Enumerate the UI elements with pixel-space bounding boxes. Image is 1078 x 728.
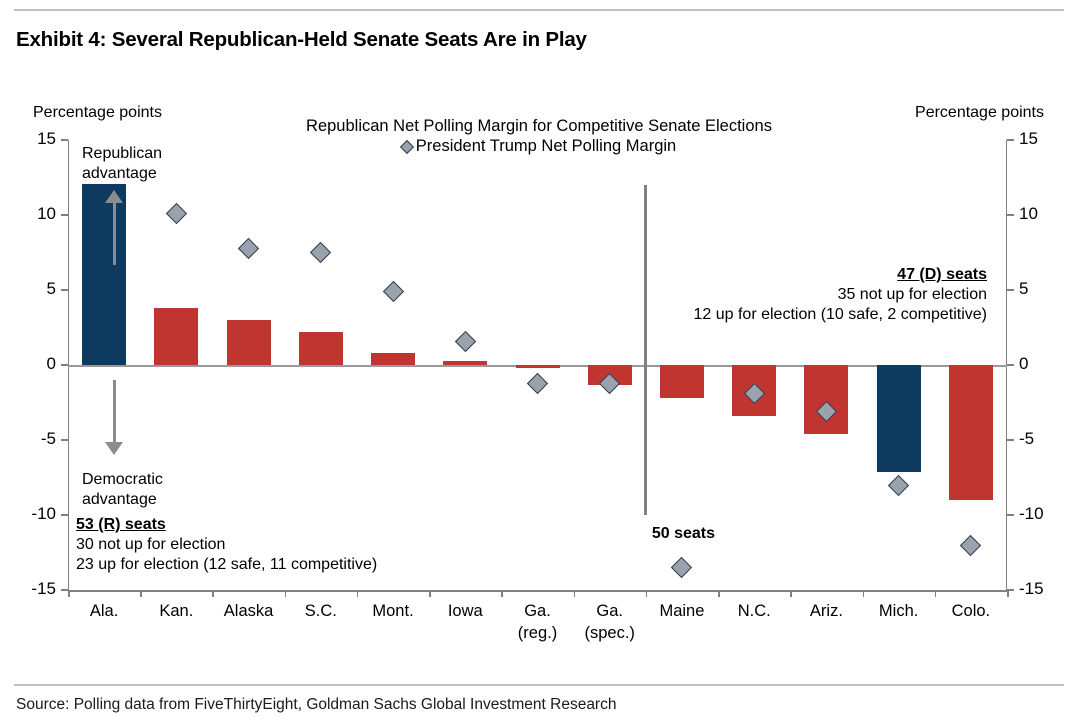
bar-mich (877, 365, 921, 472)
x-axis-category-line: Colo. (923, 600, 1019, 622)
republican-seats-heading: 53 (R) seats (76, 515, 377, 535)
x-axis-tick (790, 590, 792, 597)
diamond-icon (671, 557, 692, 578)
fifty-seat-divider-label: 50 seats (652, 525, 715, 543)
top-divider (14, 9, 1064, 11)
republican-seats-annotation: 53 (R) seats 30 not up for election 23 u… (76, 515, 377, 575)
left-axis-unit-caption: Percentage points (33, 104, 162, 122)
y-axis-label-right: -10 (1019, 504, 1044, 524)
y-axis-tick-right (1007, 139, 1014, 141)
y-axis-tick-right (1007, 214, 1014, 216)
x-axis-category-label: Colo. (923, 600, 1019, 622)
arrow-down-shaft (113, 380, 116, 443)
y-axis-label-right: 0 (1019, 354, 1028, 374)
diamond-icon (960, 534, 981, 555)
y-axis-tick-left (61, 214, 68, 216)
republican-advantage-annotation: Republican advantage (82, 144, 162, 184)
arrow-down-head (105, 442, 123, 455)
x-axis-tick (863, 590, 865, 597)
arrow-down-icon (102, 380, 126, 455)
y-axis-label-left: 10 (37, 204, 56, 224)
y-axis-label-right: 15 (1019, 129, 1038, 149)
bar-mont (371, 353, 415, 365)
y-axis-tick-left (61, 139, 68, 141)
diamond-icon (382, 281, 403, 302)
y-axis-tick-left (61, 589, 68, 591)
y-axis-label-left: 15 (37, 129, 56, 149)
y-axis-label-left: -15 (31, 579, 56, 599)
democratic-advantage-line2: advantage (82, 490, 163, 510)
y-axis-label-right: -15 (1019, 579, 1044, 599)
democratic-advantage-line1: Democratic (82, 470, 163, 490)
y-axis-label-left: 5 (47, 279, 56, 299)
bar-iowa (443, 361, 487, 365)
right-axis-unit-caption: Percentage points (915, 104, 1044, 122)
y-axis-label-left: 0 (47, 354, 56, 374)
y-axis-tick-left (61, 289, 68, 291)
x-axis-tick (718, 590, 720, 597)
republican-seats-line1: 30 not up for election (76, 535, 377, 555)
x-axis-tick (501, 590, 503, 597)
x-axis-tick (357, 590, 359, 597)
bottom-axis-line (68, 590, 1007, 592)
republican-seats-line2: 23 up for election (12 safe, 11 competit… (76, 555, 377, 575)
diamond-icon (527, 372, 548, 393)
y-axis-label-left: -5 (41, 429, 56, 449)
x-axis-tick (140, 590, 142, 597)
democratic-seats-line2: 12 up for election (10 safe, 2 competiti… (694, 305, 988, 325)
y-axis-tick-left (61, 364, 68, 366)
bottom-divider (14, 684, 1064, 686)
y-axis-tick-right (1007, 514, 1014, 516)
x-axis-tick (212, 590, 214, 597)
bar-maine (660, 365, 704, 398)
source-note: Source: Polling data from FiveThirtyEigh… (16, 696, 616, 714)
x-axis-tick (935, 590, 937, 597)
bar-kan (154, 308, 198, 365)
y-axis-tick-right (1007, 289, 1014, 291)
republican-advantage-line2: advantage (82, 164, 162, 184)
arrow-up-shaft (113, 202, 116, 265)
y-axis-tick-left (61, 439, 68, 441)
page-title: Exhibit 4: Several Republican-Held Senat… (16, 28, 587, 52)
democratic-advantage-annotation: Democratic advantage (82, 470, 163, 510)
x-axis-tick (574, 590, 576, 597)
x-axis-tick (429, 590, 431, 597)
chart-plot-area: 151050-5-10-15 151050-5-10-15 50 seats R… (68, 140, 1007, 590)
bar-ariz (804, 365, 848, 434)
x-axis-category-line: (spec.) (562, 622, 658, 644)
y-axis-label-right: 10 (1019, 204, 1038, 224)
diamond-icon (238, 237, 259, 258)
diamond-icon (166, 203, 187, 224)
bar-sc (299, 332, 343, 365)
republican-advantage-line1: Republican (82, 144, 162, 164)
arrow-up-icon (102, 190, 126, 265)
fifty-seat-divider (644, 185, 647, 515)
democratic-seats-line1: 35 not up for election (694, 285, 988, 305)
democratic-seats-heading: 47 (D) seats (694, 265, 988, 285)
y-axis-label-right: -5 (1019, 429, 1034, 449)
y-axis-tick-right (1007, 364, 1014, 366)
bar-gareg (516, 365, 560, 368)
bar-colo (949, 365, 993, 500)
x-axis-tick (1007, 590, 1009, 597)
diamond-icon (888, 474, 909, 495)
diamond-icon (310, 242, 331, 263)
y-axis-tick-right (1007, 439, 1014, 441)
x-axis-tick (646, 590, 648, 597)
democratic-seats-annotation: 47 (D) seats 35 not up for election 12 u… (694, 265, 988, 325)
y-axis-label-left: -10 (31, 504, 56, 524)
x-axis-tick (68, 590, 70, 597)
x-axis-tick (285, 590, 287, 597)
y-axis-label-right: 5 (1019, 279, 1028, 299)
diamond-icon (455, 330, 476, 351)
bar-alaska (227, 320, 271, 365)
y-axis-tick-left (61, 514, 68, 516)
